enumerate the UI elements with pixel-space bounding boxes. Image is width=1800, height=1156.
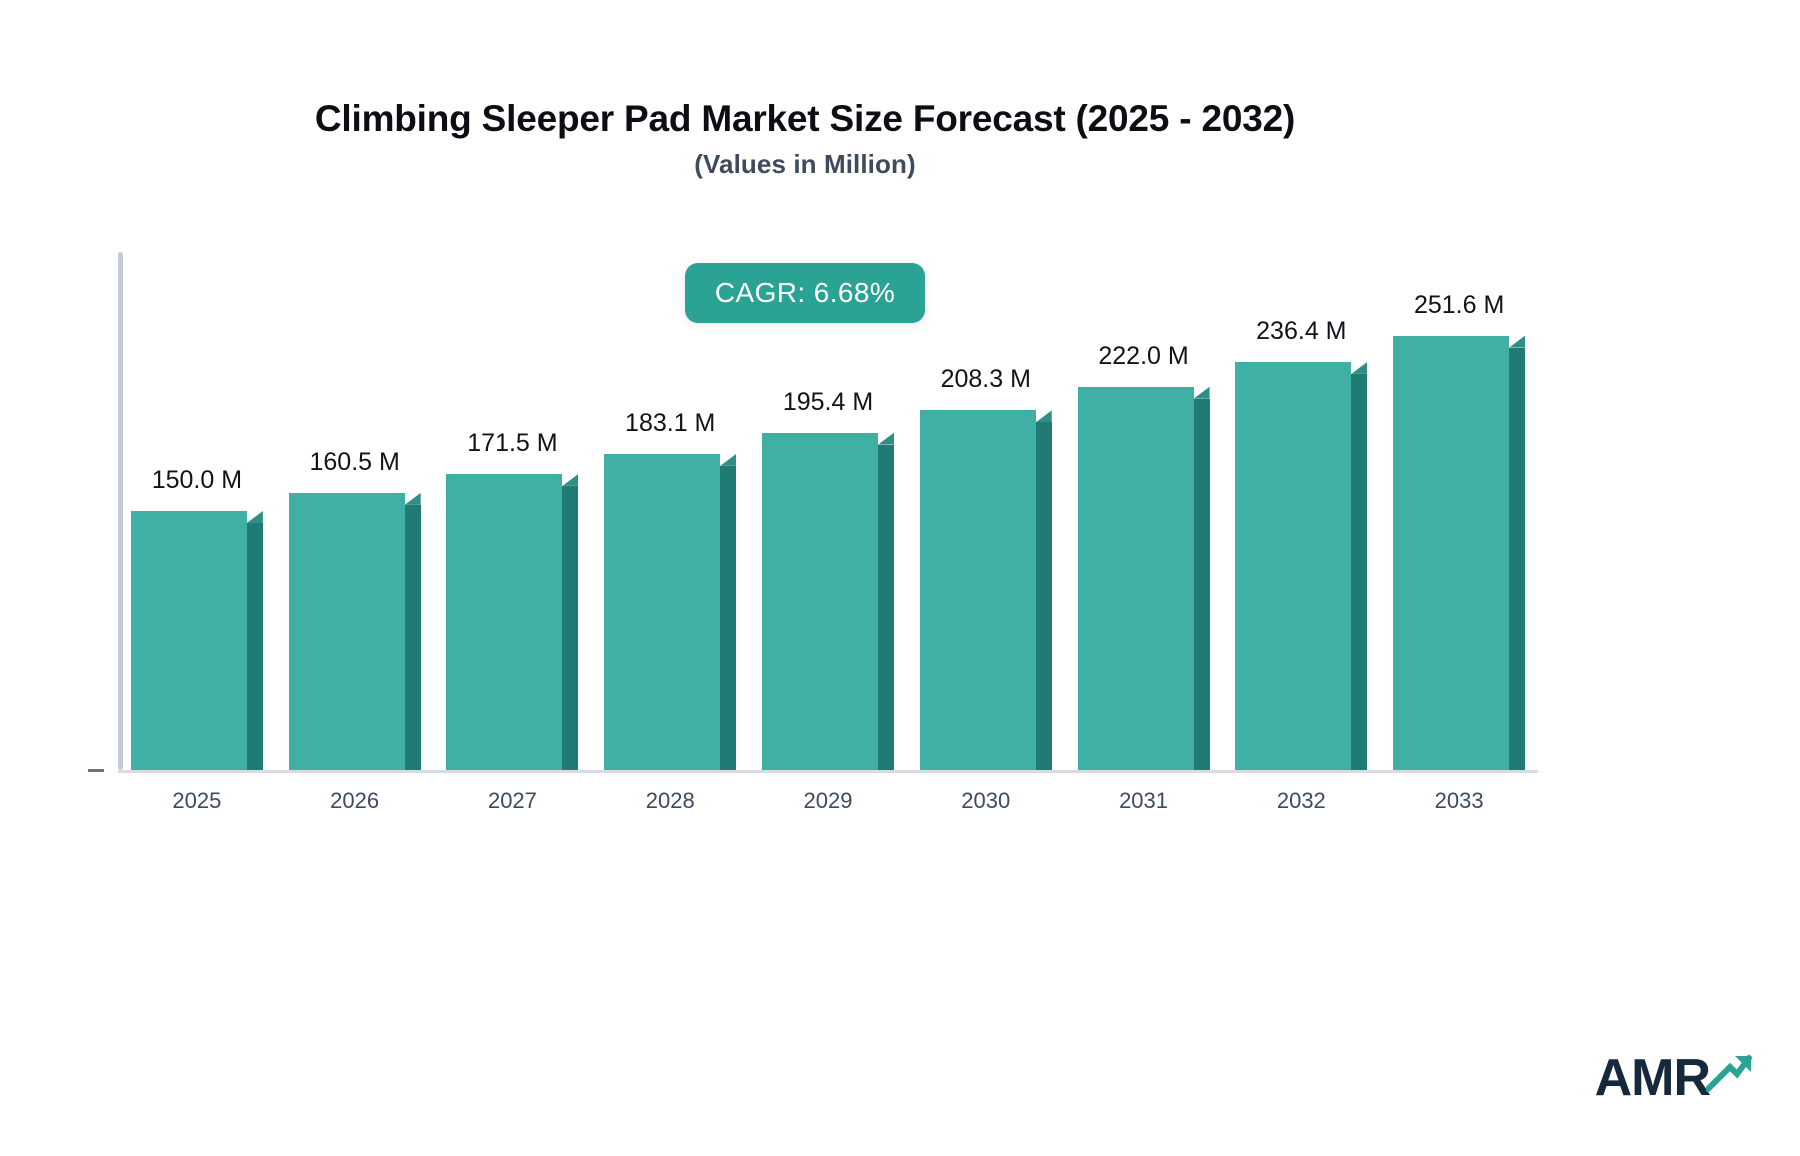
page-title: Climbing Sleeper Pad Market Size Forecas… [0, 98, 1610, 140]
bar-top-face [247, 511, 263, 523]
bar-column[interactable]: 208.3 M2030 [920, 252, 1052, 770]
bar-top-face [562, 474, 578, 486]
x-axis-tick-label: 2025 [105, 788, 289, 814]
bar-value-label: 171.5 M [420, 429, 604, 458]
x-axis-tick-label: 2033 [1367, 788, 1551, 814]
bar-top-face [1194, 387, 1210, 399]
bar-value-label: 222.0 M [1052, 342, 1236, 371]
bar-side-face [878, 445, 894, 770]
bar-side-face [1351, 374, 1367, 770]
growth-arrow-icon [1706, 1053, 1752, 1100]
plot-area: 0100.0M200.0M300.0M 150.0 M2025160.5 M20… [118, 252, 1538, 770]
bar-side-face [1194, 399, 1210, 770]
bar-column[interactable]: 150.0 M2025 [131, 252, 263, 770]
bar-front-face [604, 454, 720, 770]
bar-value-label: 208.3 M [894, 365, 1078, 394]
bar-side-face [1036, 422, 1052, 770]
chart-container: Climbing Sleeper Pad Market Size Forecas… [0, 0, 1800, 1156]
bar-top-face [1036, 410, 1052, 422]
bar-front-face [1393, 336, 1509, 770]
bar-side-face [405, 505, 421, 770]
y-axis-zero-tick [88, 769, 104, 772]
bar-front-face [1235, 362, 1351, 770]
bar-front-face [446, 474, 562, 770]
bar-top-face [720, 454, 736, 466]
bar-side-face [562, 486, 578, 770]
bar-top-face [1351, 362, 1367, 374]
bar-front-face [920, 410, 1036, 770]
bar-top-face [878, 433, 894, 445]
bar-front-face [131, 511, 247, 770]
bar-column[interactable]: 251.6 M2033 [1393, 252, 1525, 770]
bar-value-label: 183.1 M [578, 409, 762, 438]
x-axis-tick-label: 2028 [578, 788, 762, 814]
amr-logo: AMR [1595, 1052, 1752, 1104]
bar-column[interactable]: 222.0 M2031 [1078, 252, 1210, 770]
bar-side-face [247, 523, 263, 770]
x-axis-line [118, 770, 1538, 773]
bar-column[interactable]: 171.5 M2027 [446, 252, 578, 770]
chart-subtitle: (Values in Million) [0, 149, 1610, 180]
bar-value-label: 236.4 M [1209, 317, 1393, 346]
bar-series: 150.0 M2025160.5 M2026171.5 M2027183.1 M… [118, 252, 1538, 770]
bar-value-label: 195.4 M [736, 388, 920, 417]
bar-side-face [720, 466, 736, 770]
x-axis-tick-label: 2030 [894, 788, 1078, 814]
x-axis-tick-label: 2027 [420, 788, 604, 814]
x-axis-tick-label: 2032 [1209, 788, 1393, 814]
bar-front-face [1078, 387, 1194, 770]
bar-value-label: 251.6 M [1367, 291, 1551, 320]
bar-column[interactable]: 195.4 M2029 [762, 252, 894, 770]
x-axis-tick-label: 2031 [1052, 788, 1236, 814]
x-axis-tick-label: 2026 [263, 788, 447, 814]
logo-text: AMR [1595, 1052, 1710, 1104]
x-axis-tick-label: 2029 [736, 788, 920, 814]
bar-top-face [405, 493, 421, 505]
bar-top-face [1509, 336, 1525, 348]
bar-front-face [762, 433, 878, 770]
bar-side-face [1509, 348, 1525, 770]
bar-front-face [289, 493, 405, 770]
bar-value-label: 150.0 M [105, 466, 289, 495]
bar-column[interactable]: 183.1 M2028 [604, 252, 736, 770]
bar-column[interactable]: 160.5 M2026 [289, 252, 421, 770]
bar-value-label: 160.5 M [263, 448, 447, 477]
bar-column[interactable]: 236.4 M2032 [1235, 252, 1367, 770]
